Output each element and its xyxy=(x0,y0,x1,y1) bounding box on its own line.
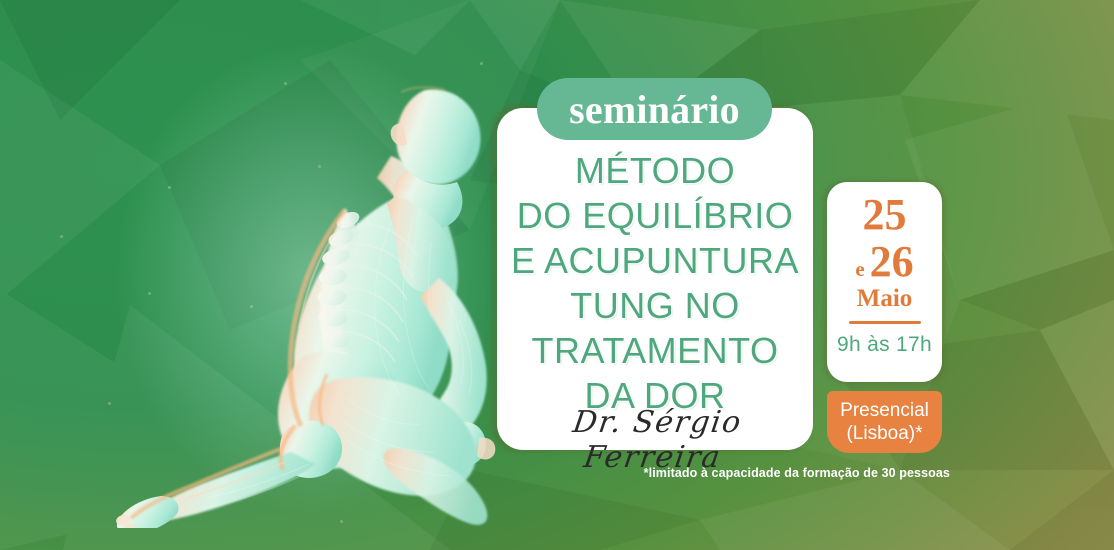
badge-format-presencial: Presencial (Lisboa)* xyxy=(827,391,942,453)
badge-seminario: seminário xyxy=(537,78,772,140)
date-day-second-row: e 26 xyxy=(855,240,913,284)
title-line-3: E ACUPUNTURA xyxy=(497,238,813,283)
title-line-4: TUNG NO xyxy=(497,283,813,328)
seminar-title: MÉTODO DO EQUILÍBRIO E ACUPUNTURA TUNG N… xyxy=(497,148,813,418)
date-conjunction: e xyxy=(855,257,864,282)
date-card: 25 e 26 Maio 9h às 17h xyxy=(827,182,942,382)
date-month: Maio xyxy=(857,284,913,314)
title-line-5: TRATAMENTO xyxy=(497,328,813,373)
date-hours: 9h às 17h xyxy=(837,333,932,357)
title-line-1: MÉTODO xyxy=(497,148,813,193)
date-day-second: 26 xyxy=(870,240,914,284)
date-divider xyxy=(849,321,921,324)
format-line-2: (Lisboa)* xyxy=(846,422,922,445)
seminar-promo-banner: seminário MÉTODO DO EQUILÍBRIO E ACUPUNT… xyxy=(0,0,1114,550)
speaker-name: Dr. Sérgio Ferreira xyxy=(492,405,818,475)
title-line-2: DO EQUILÍBRIO xyxy=(497,193,813,238)
format-line-1: Presencial xyxy=(840,399,929,422)
capacity-footnote: *limitado à capacidade da formação de 30… xyxy=(620,466,950,480)
date-day-first: 25 xyxy=(863,192,907,238)
anatomical-figure-illustration xyxy=(95,28,525,528)
